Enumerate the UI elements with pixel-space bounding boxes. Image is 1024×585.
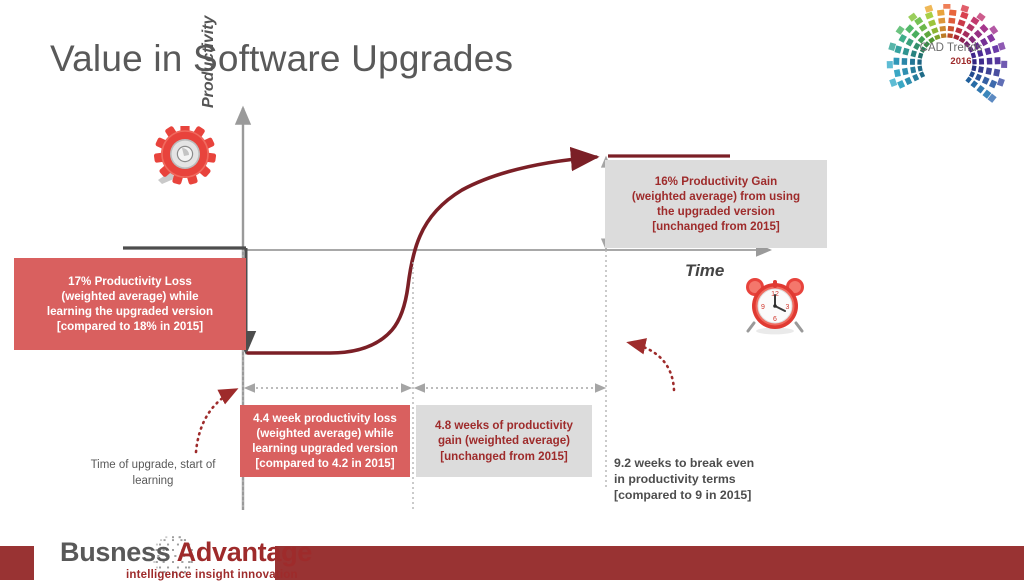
callout-loss-line4: [compared to 18% in 2015] bbox=[22, 319, 238, 334]
callout-weeks-loss-line2: (weighted average) while bbox=[248, 426, 402, 441]
cad-trends-logo-year: 2016 bbox=[916, 56, 1006, 67]
productivity-curve bbox=[248, 157, 596, 353]
note-break-even-line2: in productivity terms bbox=[614, 471, 814, 487]
callout-weeks-loss-line4: [compared to 4.2 in 2015] bbox=[248, 456, 402, 471]
page-title: Value in Software Upgrades bbox=[50, 38, 513, 80]
footer-accent-square bbox=[0, 546, 34, 580]
logo-wordmark: Busness Advantage bbox=[60, 537, 312, 568]
callout-weeks-loss-line3: learning upgraded version bbox=[248, 441, 402, 456]
callout-gain-line2: (weighted average) from using bbox=[613, 189, 819, 204]
callout-weeks-loss: 4.4 week productivity loss (weighted ave… bbox=[240, 405, 410, 477]
note-upgrade-point: Time of upgrade, start of learning bbox=[62, 458, 244, 489]
pointer-breakeven-arrow bbox=[630, 343, 674, 390]
callout-loss-line2: (weighted average) while bbox=[22, 289, 238, 304]
productivity-chart bbox=[0, 90, 880, 420]
callout-gain-line4: [unchanged from 2015] bbox=[613, 219, 819, 234]
callout-productivity-loss: 17% Productivity Loss (weighted average)… bbox=[14, 258, 246, 350]
logo-word-bus: Bus bbox=[60, 537, 110, 567]
footer-bar bbox=[275, 546, 1024, 580]
callout-weeks-gain: 4.8 weeks of productivity gain (weighted… bbox=[416, 405, 592, 477]
gear-icon bbox=[152, 126, 218, 190]
note-break-even: 9.2 weeks to break even in productivity … bbox=[614, 455, 814, 504]
logo-tagline: intelligence insight innovation bbox=[126, 569, 298, 581]
x-axis-label: Time bbox=[685, 261, 724, 281]
callout-weeks-gain-line3: [unchanged from 2015] bbox=[424, 449, 584, 464]
note-upgrade-line1: Time of upgrade, start of bbox=[62, 458, 244, 474]
callout-gain-line1: 16% Productivity Gain bbox=[613, 174, 819, 189]
pointer-upgrade-arrow bbox=[196, 390, 235, 452]
cad-trends-logo-label: CAD Trends bbox=[906, 42, 996, 55]
callout-weeks-gain-line1: 4.8 weeks of productivity bbox=[424, 418, 584, 433]
slide-canvas: Value in Software Upgrades CAD Trends 20… bbox=[0, 0, 1024, 585]
svg-text:9: 9 bbox=[761, 304, 765, 311]
business-advantage-logo: Busness Advantage intelligence insight i… bbox=[30, 534, 275, 585]
y-axis-label: Productivity bbox=[200, 16, 218, 108]
callout-gain-line3: the upgraded version bbox=[613, 204, 819, 219]
svg-text:6: 6 bbox=[773, 316, 777, 323]
callout-productivity-gain: 16% Productivity Gain (weighted average)… bbox=[605, 160, 827, 248]
logo-word-iness: ness bbox=[110, 537, 170, 567]
alarm-clock-icon: 12 3 6 9 bbox=[742, 274, 808, 336]
callout-weeks-loss-line1: 4.4 week productivity loss bbox=[248, 411, 402, 426]
note-upgrade-line2: learning bbox=[62, 474, 244, 490]
note-break-even-line3: [compared to 9 in 2015] bbox=[614, 487, 814, 503]
callout-loss-line3: learning the upgraded version bbox=[22, 304, 238, 319]
logo-word-advantage: Advantage bbox=[177, 537, 312, 567]
note-break-even-line1: 9.2 weeks to break even bbox=[614, 455, 814, 471]
svg-text:3: 3 bbox=[786, 304, 790, 311]
callout-weeks-gain-line2: gain (weighted average) bbox=[424, 433, 584, 448]
callout-loss-line1: 17% Productivity Loss bbox=[22, 274, 238, 289]
